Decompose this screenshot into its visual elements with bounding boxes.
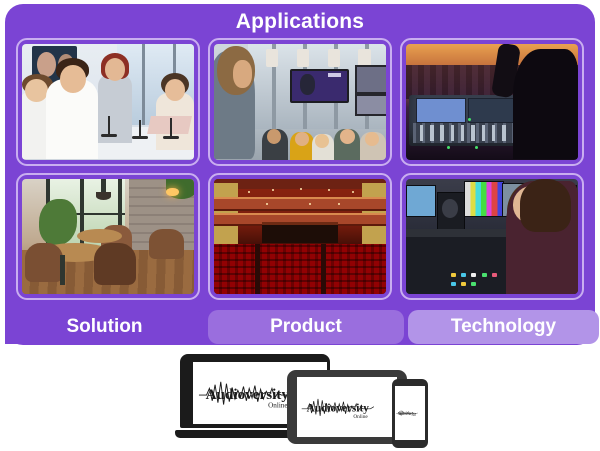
svg-text:Audioversity: Audioversity — [206, 386, 290, 403]
page-title: Applications — [5, 10, 595, 34]
photo-restaurant-cafe-interior — [22, 179, 194, 295]
tab-technology[interactable]: Technology — [408, 310, 599, 344]
application-image-grid — [16, 38, 584, 300]
application-card-conference-meeting-room[interactable] — [16, 38, 200, 166]
audioversity-logo-tablet: Audioversity Online — [297, 377, 397, 437]
svg-text:Audioversity: Audioversity — [307, 402, 370, 414]
application-card-broadcast-control-room[interactable] — [400, 173, 584, 301]
application-card-live-concert-mixing-console[interactable] — [400, 38, 584, 166]
photo-lecture-hall-presentation — [214, 44, 386, 160]
applications-panel: Applications — [5, 4, 595, 345]
tablet-mockup: Audioversity Online — [287, 370, 407, 444]
audioversity-logo-phone: Audioversity Online — [395, 386, 425, 440]
tab-solution[interactable]: Solution — [5, 310, 204, 344]
svg-text:Online: Online — [412, 415, 417, 417]
svg-text:Audioversity: Audioversity — [398, 411, 417, 415]
application-card-restaurant-cafe-interior[interactable] — [16, 173, 200, 301]
phone-mockup: Audioversity Online — [392, 379, 428, 448]
tab-bar: Solution Product Technology — [0, 310, 600, 344]
application-card-lecture-hall-presentation[interactable] — [208, 38, 392, 166]
tablet-screen: Audioversity Online — [297, 377, 397, 437]
svg-text:Online: Online — [269, 401, 288, 409]
photo-broadcast-control-room — [406, 179, 578, 295]
phone-screen: Audioversity Online — [395, 386, 425, 440]
photo-conference-meeting-room — [22, 44, 194, 160]
svg-text:Online: Online — [353, 414, 368, 420]
photo-theatre-auditorium — [214, 179, 386, 295]
device-mockups: Audioversity Online Audioversity Online — [0, 352, 600, 451]
tab-product[interactable]: Product — [208, 310, 404, 344]
photo-live-concert-mixing-console — [406, 44, 578, 160]
application-card-theatre-auditorium[interactable] — [208, 173, 392, 301]
